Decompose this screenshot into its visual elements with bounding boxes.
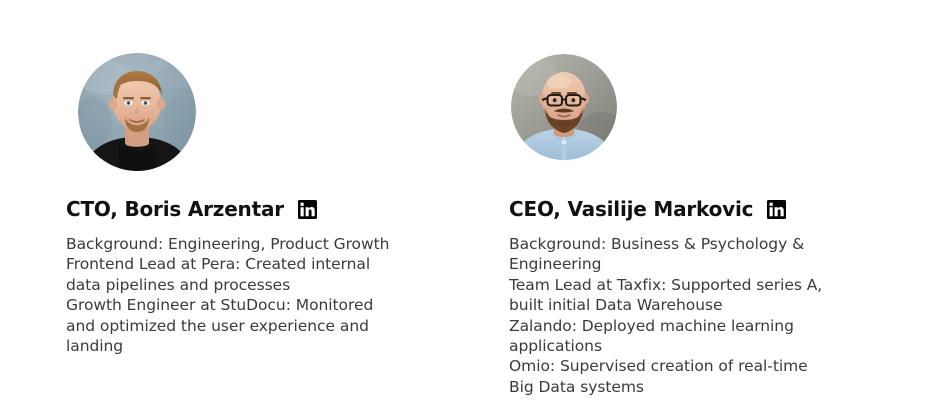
team-profiles-panel: CTO, Boris Arzentar Background: Engineer… xyxy=(0,0,948,412)
bio-line: Zalando: Deployed machine learning xyxy=(509,316,853,336)
bio-line: landing xyxy=(66,336,406,356)
profile-headline-ceo: CEO, Vasilije Markovic xyxy=(509,196,786,222)
profile-name-cto: CTO, Boris Arzentar xyxy=(66,196,284,222)
bio-line: built initial Data Warehouse xyxy=(509,295,853,315)
bio-line: Team Lead at Taxfix: Supported series A, xyxy=(509,275,853,295)
bio-line: applications xyxy=(509,336,853,356)
avatar-image xyxy=(511,54,617,160)
bio-line: Omio: Supervised creation of real-time xyxy=(509,356,853,376)
avatar-boris-arzentar xyxy=(78,53,196,171)
avatar-vasilije-markovic xyxy=(511,54,617,160)
bio-line: Frontend Lead at Pera: Created internal xyxy=(66,254,406,274)
profile-headline-cto: CTO, Boris Arzentar xyxy=(66,196,317,222)
bio-line: Growth Engineer at StuDocu: Monitored xyxy=(66,295,406,315)
bio-line: Background: Business & Psychology & xyxy=(509,234,853,254)
bio-line: and optimized the user experience and xyxy=(66,316,406,336)
bio-line: Background: Engineering, Product Growth xyxy=(66,234,406,254)
avatar-image xyxy=(78,53,196,171)
bio-line: Engineering xyxy=(509,254,853,274)
profile-bio-cto: Background: Engineering, Product Growth … xyxy=(66,234,406,356)
profile-bio-ceo: Background: Business & Psychology & Engi… xyxy=(509,234,853,397)
bio-line: data pipelines and processes xyxy=(66,275,406,295)
bio-line: Big Data systems xyxy=(509,377,853,397)
profile-name-ceo: CEO, Vasilije Markovic xyxy=(509,196,753,222)
linkedin-icon[interactable] xyxy=(767,200,786,219)
linkedin-icon[interactable] xyxy=(298,200,317,219)
